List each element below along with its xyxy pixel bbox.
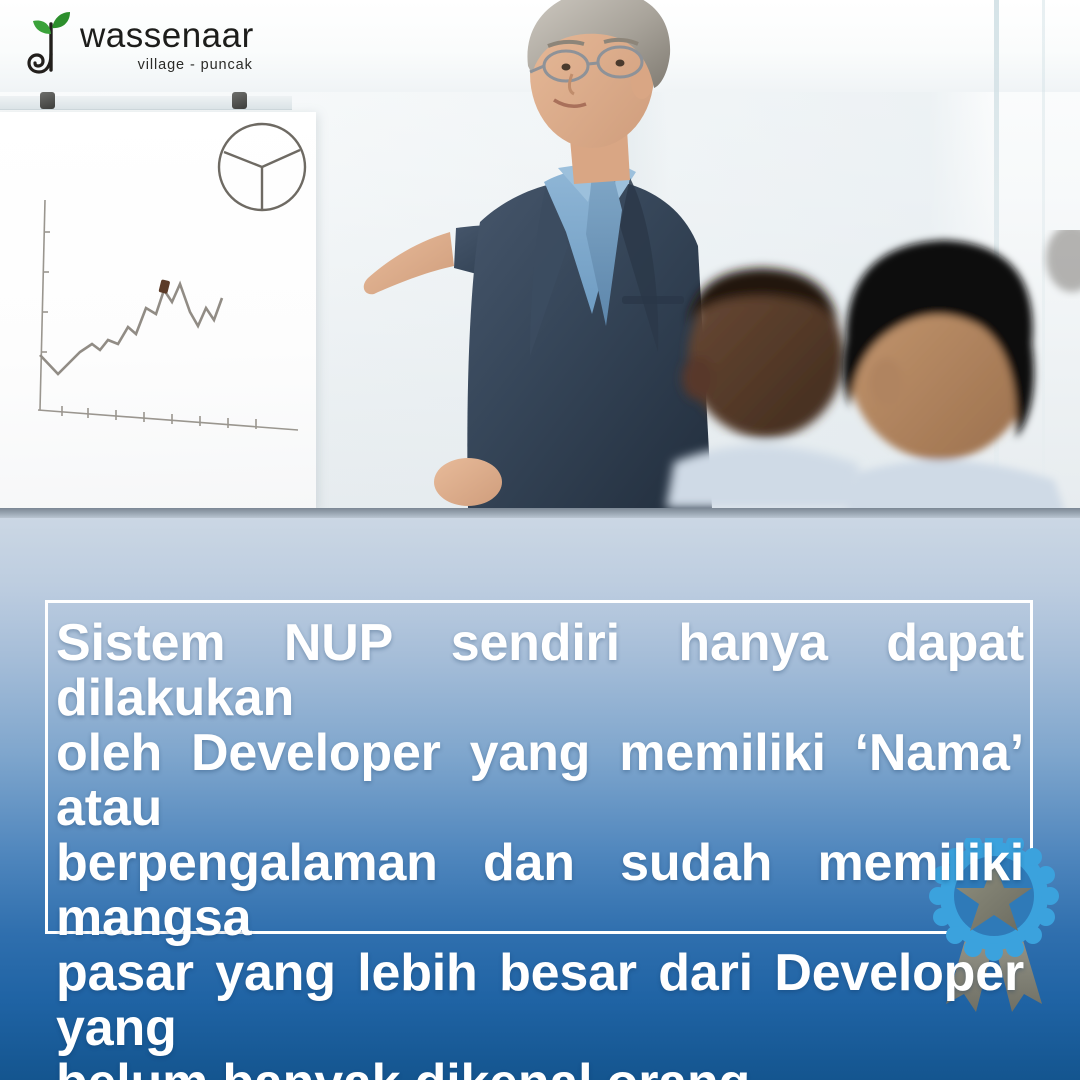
presenter-hand <box>364 232 454 294</box>
audience-member-far <box>1046 230 1080 292</box>
growth-line-series <box>40 284 222 374</box>
audience-group <box>640 230 1080 508</box>
pie-chart-sketch <box>219 124 305 210</box>
brand-logo: wassenaar village - puncak <box>26 8 254 78</box>
audience-member-right <box>843 240 1066 508</box>
chart-x-axis <box>38 406 298 430</box>
flipchart-chart-drawing <box>0 112 324 508</box>
audience-member-left <box>666 268 864 508</box>
promotional-poster: wassenaar village - puncak <box>0 0 1080 1080</box>
presenter-other-hand <box>434 458 502 506</box>
presenter-eye <box>616 60 625 67</box>
quote-line: oleh Developer yang memiliki ‘Nama’ atau <box>56 726 1024 836</box>
quote-line: Sistem NUP sendiri hanya dapat dilakukan <box>56 616 1024 726</box>
marker-pen-icon <box>158 279 170 294</box>
flipchart-clip-icon <box>40 92 55 109</box>
quote-line: belum banyak dikenal orang. <box>56 1056 1024 1080</box>
sprout-leaf-icon <box>26 8 72 78</box>
photo-shadow-divider <box>0 508 1080 518</box>
presenter-eye <box>562 64 571 71</box>
brand-name: wassenaar <box>80 18 254 53</box>
flipchart-clip-icon <box>232 92 247 109</box>
quote-text: Sistem NUP sendiri hanya dapat dilakukan… <box>56 616 1024 1080</box>
chart-y-axis <box>40 200 50 410</box>
quote-line: pasar yang lebih besar dari Developer ya… <box>56 946 1024 1056</box>
quote-line: berpengalaman dan sudah memiliki mangsa <box>56 836 1024 946</box>
brand-wordmark: wassenaar village - puncak <box>80 14 254 73</box>
brand-tagline: village - puncak <box>80 58 254 73</box>
